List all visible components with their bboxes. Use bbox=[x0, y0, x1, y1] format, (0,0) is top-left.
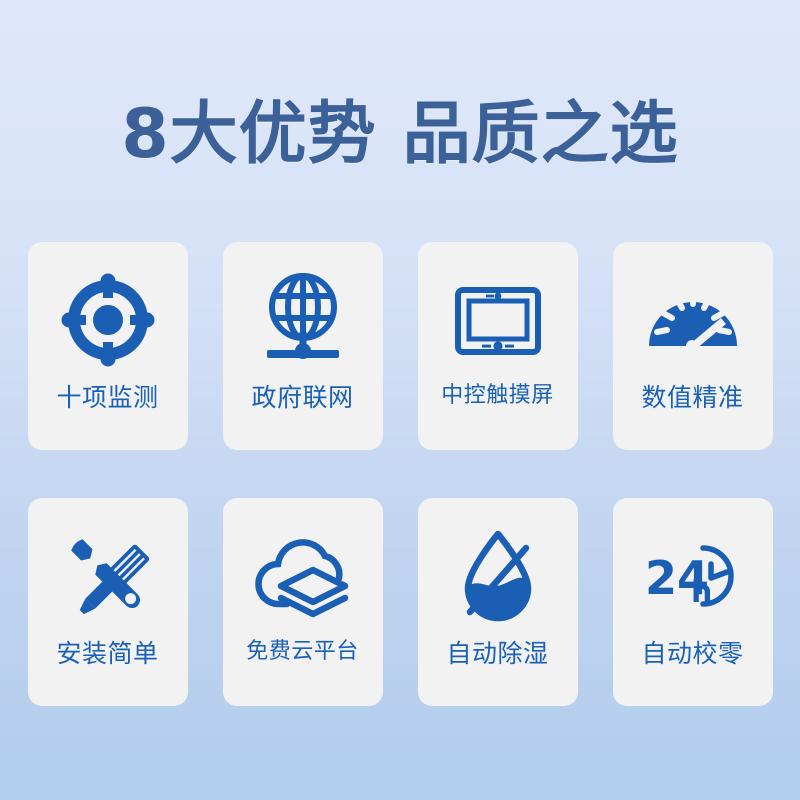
page-title: 8大优势品质之选 bbox=[0, 92, 800, 178]
feature-card-4[interactable]: 数值精准 bbox=[613, 242, 773, 450]
feature-grid: 十项监测 政府联网 bbox=[15, 242, 785, 706]
feature-card-label: 自动校零 bbox=[641, 640, 743, 668]
feature-card-label: 免费云平台 bbox=[246, 640, 359, 664]
feature-card-label: 数值精准 bbox=[641, 384, 743, 412]
feature-card-label: 安装简单 bbox=[56, 640, 158, 668]
tablet-touchscreen-icon bbox=[446, 268, 550, 372]
feature-card-2[interactable]: 政府联网 bbox=[223, 242, 383, 450]
wrench-screwdriver-icon bbox=[56, 524, 160, 628]
headline-segment-2: 品质之选 bbox=[403, 95, 679, 174]
feature-card-3[interactable]: 中控触摸屏 bbox=[418, 242, 578, 450]
24h-clock-icon: 24 h bbox=[641, 524, 745, 628]
feature-card-label: 十项监测 bbox=[56, 384, 158, 412]
feature-card-6[interactable]: 免费云平台 bbox=[223, 498, 383, 706]
feature-card-8[interactable]: 24 h 自动校零 bbox=[613, 498, 773, 706]
feature-card-7[interactable]: 自动除湿 bbox=[418, 498, 578, 706]
cloud-layers-icon bbox=[251, 524, 355, 628]
gauge-speedometer-icon bbox=[641, 268, 745, 372]
crosshair-target-icon bbox=[56, 268, 160, 372]
feature-card-label: 中控触摸屏 bbox=[441, 384, 554, 408]
feature-card-label: 政府联网 bbox=[251, 384, 353, 412]
globe-network-icon bbox=[251, 268, 355, 372]
feature-card-label: 自动除湿 bbox=[446, 640, 548, 668]
headline-text: 8大优势品质之选 bbox=[121, 101, 678, 169]
promo-feature-page: 8大优势品质之选 十项监测 bbox=[0, 0, 800, 800]
headline-segment-1: 8大优势 bbox=[121, 95, 376, 174]
feature-card-1[interactable]: 十项监测 bbox=[28, 242, 188, 450]
water-drop-slash-icon bbox=[446, 524, 550, 628]
feature-card-5[interactable]: 安装简单 bbox=[28, 498, 188, 706]
badge-unit: h bbox=[691, 575, 712, 610]
